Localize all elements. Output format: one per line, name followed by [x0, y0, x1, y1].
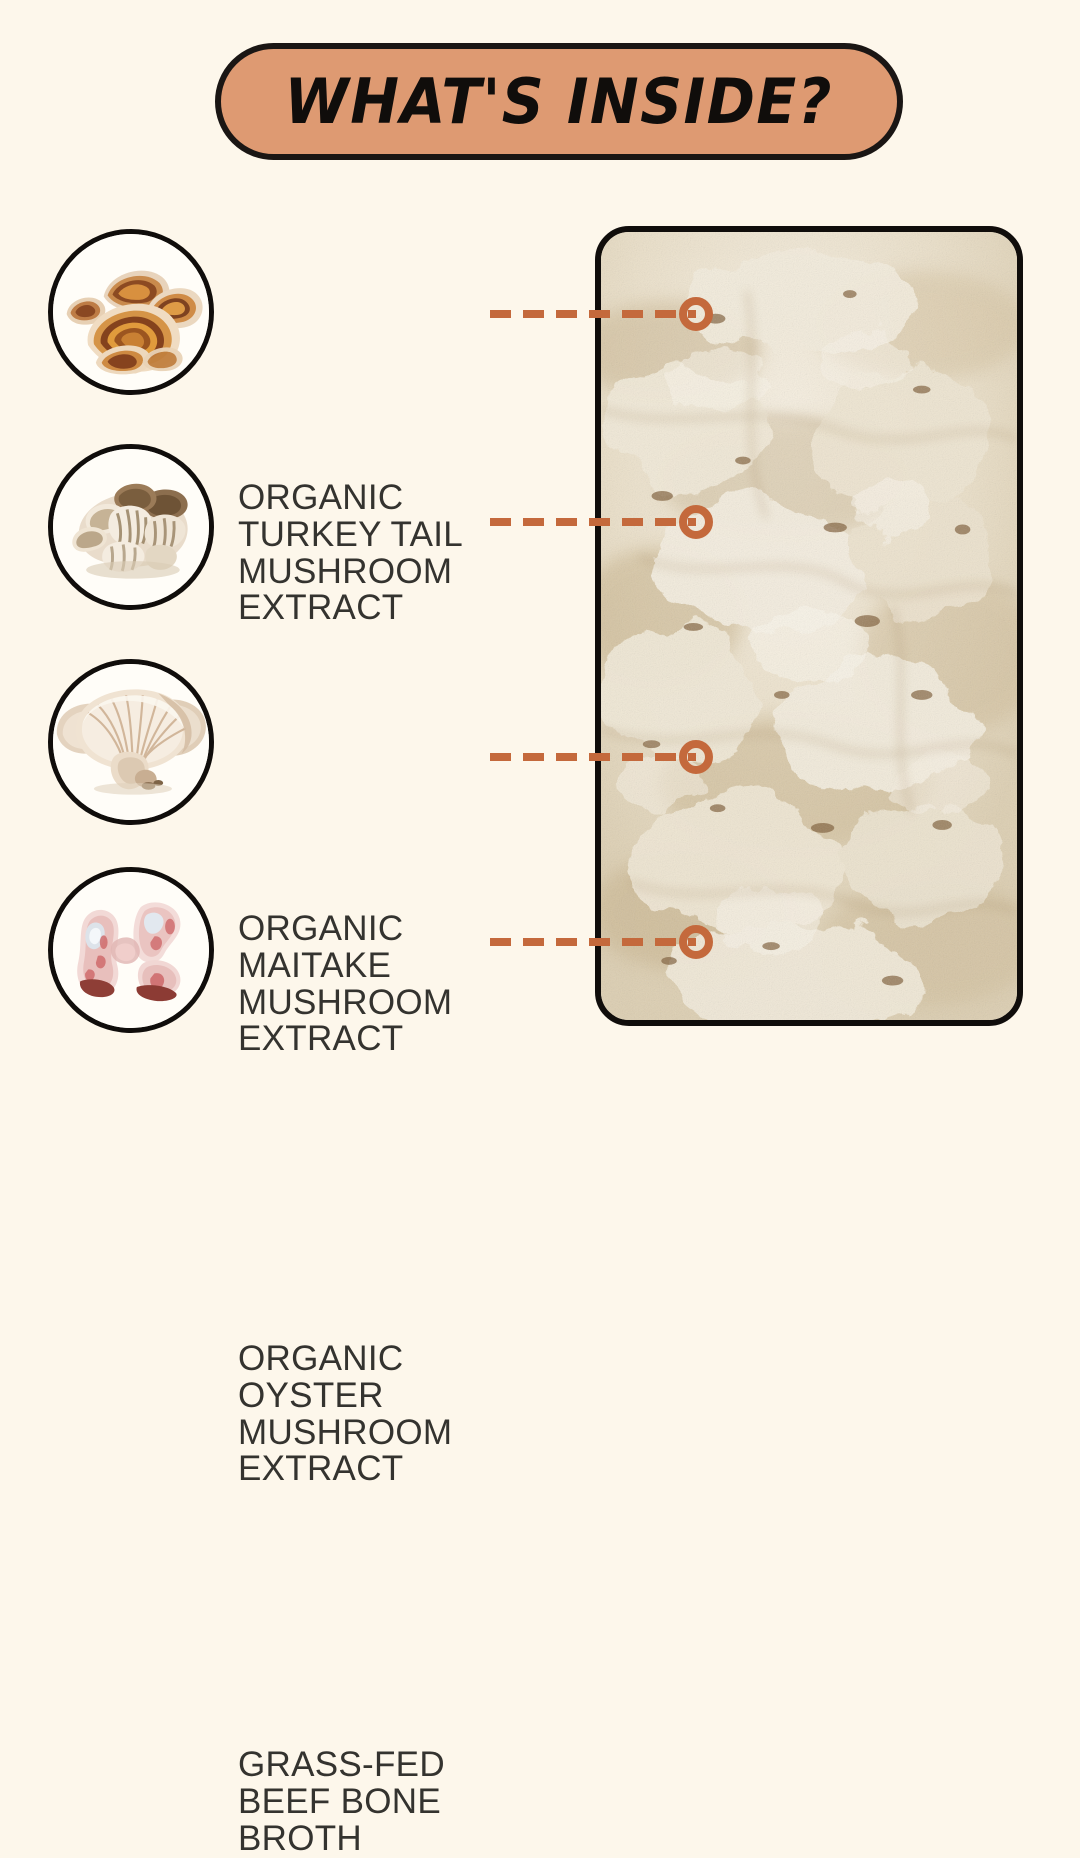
ingredient-row: GRASS-FED BEEF BONE BROTH — [0, 860, 560, 1040]
maitake-mushroom-illustration — [53, 449, 209, 605]
label-line: BROTH — [238, 1821, 508, 1858]
turkey-tail-mushroom-illustration — [53, 234, 209, 390]
label-line: GRASS-FED — [238, 1747, 508, 1784]
label-line: BEEF BONE — [238, 1784, 508, 1821]
label-line: EXTRACT — [238, 1451, 508, 1488]
ingredient-label: ORGANIC OYSTER MUSHROOM EXTRACT — [238, 1341, 508, 1488]
oyster-mushroom-icon — [48, 659, 214, 825]
ingredient-row: ORGANIC OYSTER MUSHROOM EXTRACT — [0, 652, 560, 832]
ingredient-row: ORGANIC TURKEY TAIL MUSHROOM EXTRACT — [0, 222, 560, 402]
beef-bone-icon — [48, 867, 214, 1033]
label-line: ORGANIC — [238, 1341, 508, 1378]
page-title: WHAT'S INSIDE? — [285, 71, 833, 133]
ingredient-label: GRASS-FED BEEF BONE BROTH — [238, 1747, 508, 1857]
connector-line — [490, 518, 696, 526]
oyster-mushroom-illustration — [53, 664, 209, 820]
page-title-badge: WHAT'S INSIDE? — [215, 43, 903, 160]
label-line: MUSHROOM — [238, 1415, 508, 1452]
ingredient-row: ORGANIC MAITAKE MUSHROOM EXTRACT — [0, 437, 560, 617]
connector-endpoint-ring — [679, 740, 713, 774]
product-image-panel — [595, 226, 1023, 1026]
mushroom-protein-powder-photo — [601, 232, 1017, 1020]
connector-line — [490, 310, 696, 318]
connector-line — [490, 938, 696, 946]
maitake-mushroom-icon — [48, 444, 214, 610]
connector-line — [490, 753, 696, 761]
connector-endpoint-ring — [679, 505, 713, 539]
whats-inside-infographic: WHAT'S INSIDE? — [0, 0, 1080, 1080]
beef-bone-illustration — [53, 872, 209, 1028]
connector-endpoint-ring — [679, 297, 713, 331]
connector-endpoint-ring — [679, 925, 713, 959]
turkey-tail-mushroom-icon — [48, 229, 214, 395]
label-line: OYSTER — [238, 1378, 508, 1415]
